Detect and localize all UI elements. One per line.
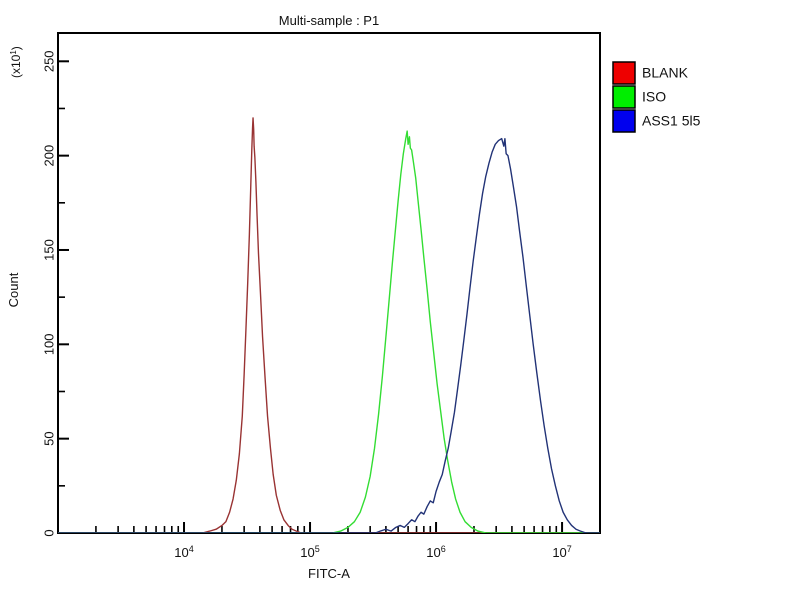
legend-swatch-ass1-5l5: [613, 110, 635, 132]
y-multiplier-open: (x10: [9, 54, 23, 78]
legend-label-blank: BLANK: [642, 65, 689, 81]
legend-swatch-iso: [613, 86, 635, 108]
y-multiplier-close: ): [9, 46, 23, 50]
legend-label-ass1-5l5: ASS1 5l5: [642, 113, 701, 129]
y-tick-label: 50: [41, 431, 56, 445]
x-axis-title: FITC-A: [308, 566, 350, 581]
legend-swatch-blank: [613, 62, 635, 84]
histogram-plot: Multi-sample : P1 050100150200250 104105…: [0, 0, 800, 600]
y-axis-title: Count: [6, 272, 21, 307]
chart-title: Multi-sample : P1: [279, 13, 379, 28]
y-axis-multiplier: (x101): [9, 46, 23, 78]
legend-label-iso: ISO: [642, 89, 666, 105]
y-tick-label: 150: [41, 239, 56, 261]
y-tick-label: 250: [41, 50, 56, 72]
y-tick-label: 100: [41, 333, 56, 355]
plot-frame: [58, 33, 600, 533]
svg-text:(x101): (x101): [9, 46, 23, 78]
flow-cytometry-figure: Multi-sample : P1 050100150200250 104105…: [0, 0, 800, 600]
y-tick-label: 200: [41, 145, 56, 167]
y-tick-label: 0: [41, 529, 56, 536]
